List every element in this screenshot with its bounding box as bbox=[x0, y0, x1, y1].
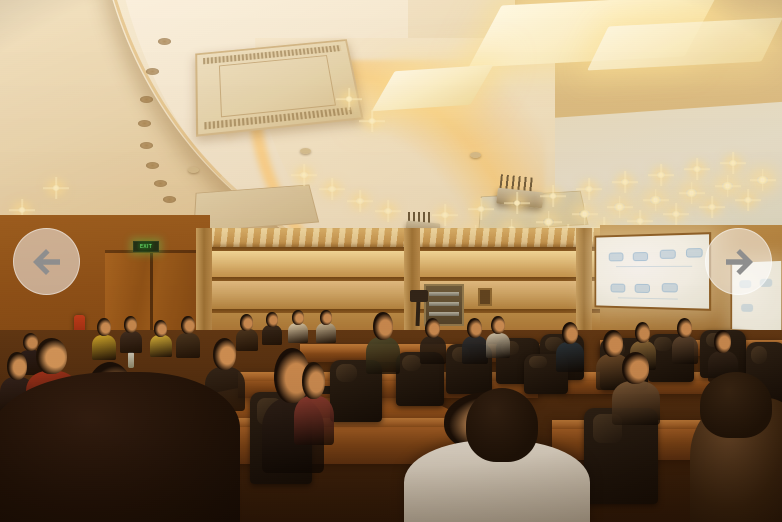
person-body bbox=[316, 323, 336, 343]
person-head bbox=[124, 316, 137, 333]
soffit-light-trim bbox=[146, 68, 159, 75]
ac-diffuser bbox=[219, 55, 336, 117]
chair-highlight bbox=[751, 346, 767, 364]
audience-member bbox=[366, 312, 400, 372]
person-body bbox=[366, 337, 400, 374]
recessed-downlight bbox=[513, 200, 521, 206]
foreground-silhouette bbox=[0, 372, 240, 522]
soffit-light-trim bbox=[163, 196, 176, 203]
recessed-downlight bbox=[52, 185, 60, 191]
recessed-downlight bbox=[744, 197, 752, 203]
audience-member bbox=[92, 318, 116, 358]
person-head bbox=[292, 310, 304, 325]
audience-member bbox=[316, 310, 336, 342]
person-head bbox=[181, 316, 195, 334]
recessed-downlight bbox=[686, 189, 697, 197]
chair-highlight bbox=[336, 364, 357, 383]
person-head bbox=[467, 318, 482, 338]
recessed-downlight bbox=[345, 96, 353, 102]
person-head bbox=[491, 316, 505, 334]
recessed-downlight bbox=[636, 218, 644, 224]
recessed-downlight bbox=[672, 211, 680, 217]
person-head bbox=[154, 320, 167, 337]
recessed-downlight bbox=[328, 186, 336, 192]
audience-member bbox=[612, 352, 660, 422]
person-body bbox=[486, 333, 510, 358]
slide-node bbox=[741, 304, 753, 312]
audience-member bbox=[294, 362, 334, 442]
soffit-light-trim bbox=[154, 180, 167, 187]
audience-member bbox=[486, 316, 510, 356]
audience-member bbox=[120, 316, 142, 352]
rack-shelf bbox=[429, 302, 459, 306]
person-head bbox=[302, 362, 325, 399]
slide-node bbox=[635, 284, 650, 293]
recessed-downlight bbox=[368, 118, 376, 124]
person-body bbox=[92, 335, 116, 360]
person-body bbox=[462, 336, 488, 363]
person-head bbox=[213, 338, 236, 370]
photo-viewer: EXIT bbox=[0, 0, 782, 522]
recessed-downlight bbox=[549, 193, 557, 199]
person-head bbox=[635, 322, 650, 343]
smoke-detector-icon bbox=[300, 148, 311, 154]
person-body bbox=[672, 336, 698, 363]
projection-screen-main bbox=[594, 232, 711, 311]
recessed-downlight bbox=[757, 176, 768, 184]
person-head bbox=[562, 322, 578, 344]
recessed-downlight bbox=[729, 160, 737, 166]
person-body bbox=[288, 323, 308, 343]
next-image-button[interactable] bbox=[705, 228, 772, 295]
person-head bbox=[677, 318, 692, 338]
smoke-detector-icon bbox=[188, 167, 199, 173]
emergency-exit-sign: EXIT bbox=[133, 241, 159, 252]
chair-highlight bbox=[529, 356, 547, 368]
audience-member bbox=[420, 318, 446, 362]
soffit-light-trim bbox=[146, 162, 159, 169]
chair-highlight bbox=[654, 337, 672, 351]
recessed-downlight bbox=[708, 204, 716, 210]
person-head bbox=[425, 318, 440, 338]
exit-sign-label: EXIT bbox=[140, 244, 152, 250]
person-body bbox=[262, 325, 282, 345]
slide-node bbox=[609, 252, 624, 261]
photo-image: EXIT bbox=[0, 0, 782, 522]
slide-node bbox=[660, 250, 676, 259]
person-head bbox=[373, 312, 393, 340]
recessed-downlight bbox=[722, 182, 733, 190]
recessed-downlight bbox=[384, 208, 392, 214]
audience-member bbox=[176, 316, 200, 356]
slide-node bbox=[633, 252, 648, 261]
person-body bbox=[420, 336, 446, 363]
audience-member bbox=[236, 314, 258, 350]
recessed-downlight bbox=[614, 203, 625, 211]
person-head bbox=[240, 314, 253, 331]
recessed-downlight bbox=[18, 207, 26, 213]
person-body bbox=[176, 333, 200, 358]
slide-node bbox=[611, 284, 626, 293]
arrow-left-icon bbox=[27, 242, 67, 282]
person-body bbox=[120, 331, 142, 353]
person-body bbox=[236, 329, 258, 351]
recessed-downlight bbox=[585, 186, 593, 192]
recessed-downlight bbox=[543, 218, 554, 226]
arrow-right-icon bbox=[719, 242, 759, 282]
person-body bbox=[150, 335, 172, 357]
rack-shelf bbox=[429, 292, 459, 296]
person-head bbox=[266, 312, 278, 327]
slide-connector bbox=[616, 266, 692, 267]
rack-shelf bbox=[429, 312, 459, 316]
person-head bbox=[714, 330, 731, 353]
video-camera bbox=[410, 290, 428, 302]
slide-node bbox=[662, 283, 678, 292]
smoke-detector-icon bbox=[470, 152, 481, 158]
foreground-person-head bbox=[466, 388, 538, 462]
slide-connector bbox=[618, 297, 678, 299]
audience-member bbox=[462, 318, 488, 362]
prev-image-button[interactable] bbox=[13, 228, 80, 295]
wall-picture-frame bbox=[478, 288, 492, 306]
audience-member bbox=[262, 312, 282, 344]
recessed-downlight bbox=[477, 206, 485, 212]
person-head bbox=[36, 338, 66, 374]
soffit-light-trim bbox=[158, 38, 171, 45]
audience-member bbox=[672, 318, 698, 362]
person-body bbox=[556, 342, 584, 372]
soffit-light-trim bbox=[138, 120, 151, 127]
person-head bbox=[320, 310, 332, 325]
person-head bbox=[7, 352, 27, 380]
recessed-downlight bbox=[300, 172, 308, 178]
recessed-downlight bbox=[441, 212, 449, 218]
chair-highlight bbox=[402, 355, 421, 371]
recessed-downlight bbox=[657, 172, 665, 178]
foreground-person-right-head bbox=[700, 372, 772, 438]
person-body bbox=[294, 396, 334, 446]
recessed-downlight bbox=[356, 198, 364, 204]
audience-member bbox=[556, 322, 584, 370]
recessed-downlight bbox=[650, 196, 661, 204]
audience-member bbox=[150, 320, 172, 356]
person-head bbox=[97, 318, 111, 336]
recessed-downlight bbox=[621, 179, 629, 185]
soffit-light-trim bbox=[140, 142, 153, 149]
soffit-light-trim bbox=[140, 96, 153, 103]
slide-node bbox=[686, 248, 703, 258]
audience-member bbox=[288, 310, 308, 342]
person-head bbox=[622, 352, 650, 384]
person-body bbox=[612, 381, 660, 424]
recessed-downlight bbox=[579, 210, 590, 218]
recessed-downlight bbox=[693, 166, 701, 172]
